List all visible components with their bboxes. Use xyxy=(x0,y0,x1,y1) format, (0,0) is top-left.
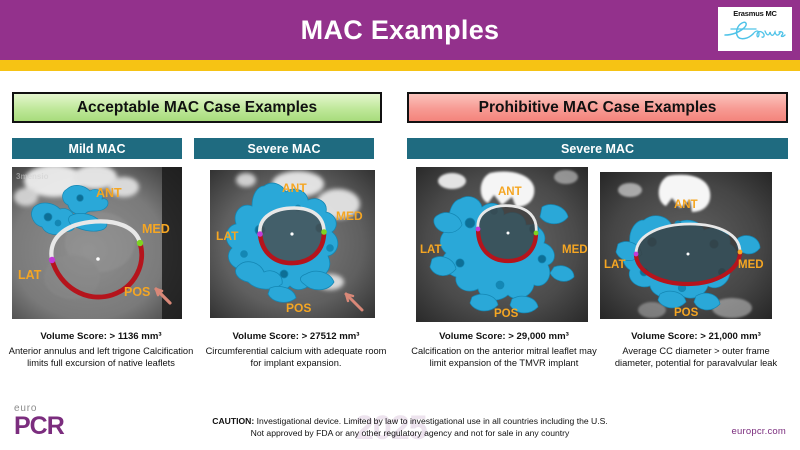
erasmus-mc-logo: Erasmus MC xyxy=(718,7,792,51)
label-pos: POS xyxy=(494,308,519,320)
caption-text-3: Calcification on the anterior mitral lea… xyxy=(402,345,606,370)
label-med: MED xyxy=(336,209,363,223)
europcr-website[interactable]: europcr.com xyxy=(732,426,786,437)
subheader-mild-mac-label: Mild MAC xyxy=(69,142,126,156)
caption-text-1: Anterior annulus and left trigone Calcif… xyxy=(6,345,196,370)
label-ant: ANT xyxy=(674,199,698,211)
page-title: MAC Examples xyxy=(0,0,800,60)
label-lat: LAT xyxy=(18,268,42,282)
europcr-logo-pcr: PCR xyxy=(14,414,92,438)
caution-line-1: Investigational device. Limited by law t… xyxy=(254,416,608,426)
section-banner-acceptable-label: Acceptable MAC Case Examples xyxy=(77,99,317,117)
section-banner-prohibitive-label: Prohibitive MAC Case Examples xyxy=(479,99,717,117)
caution-notice: CAUTION: Investigational device. Limited… xyxy=(140,415,680,440)
label-med: MED xyxy=(562,244,588,256)
slide-header: MAC Examples Erasmus MC xyxy=(0,0,800,60)
caution-prefix: CAUTION: xyxy=(212,416,254,426)
label-med: MED xyxy=(142,222,170,236)
volume-score-2: Volume Score: > 27512 mm³ xyxy=(204,331,388,344)
ct-image-severe-mac-prohibitive-2: ANT MED LAT POS xyxy=(600,172,772,319)
label-pos: POS xyxy=(124,285,150,299)
caption-severe-mac-acceptable: Volume Score: > 27512 mm³ Circumferentia… xyxy=(204,331,388,370)
europcr-logo: euro PCR xyxy=(14,404,92,444)
label-ant: ANT xyxy=(282,181,307,195)
ct-watermark: 3mensio xyxy=(16,172,49,181)
label-ant: ANT xyxy=(498,186,522,198)
subheader-severe-mac-prohibitive-label: Severe MAC xyxy=(561,142,634,156)
label-lat: LAT xyxy=(420,244,442,256)
subheader-severe-mac-acceptable-label: Severe MAC xyxy=(248,142,321,156)
subheader-severe-mac-prohibitive: Severe MAC xyxy=(407,138,788,159)
ct-image-severe-mac-prohibitive-1: ANT MED LAT POS xyxy=(416,167,588,322)
caption-text-2: Circumferential calcium with adequate ro… xyxy=(204,345,388,370)
caption-mild-mac: Volume Score: > 1136 mm³ Anterior annulu… xyxy=(6,331,196,370)
ct-image-mild-mac: ANT MED LAT POS 3mensio xyxy=(12,167,182,319)
subheader-severe-mac-acceptable: Severe MAC xyxy=(194,138,374,159)
subheader-mild-mac: Mild MAC xyxy=(12,138,182,159)
label-lat: LAT xyxy=(216,229,239,243)
label-med: MED xyxy=(738,259,764,271)
label-pos: POS xyxy=(286,301,311,315)
erasmus-signature-icon xyxy=(722,19,788,43)
accent-bar xyxy=(0,60,800,71)
volume-score-3: Volume Score: > 29,000 mm³ xyxy=(402,331,606,344)
ct-image-severe-mac-acceptable: ANT MED LAT POS xyxy=(210,170,375,318)
label-pos: POS xyxy=(674,307,699,319)
volume-score-1: Volume Score: > 1136 mm³ xyxy=(6,331,196,344)
volume-score-4: Volume Score: > 21,000 mm³ xyxy=(608,331,784,344)
caption-severe-mac-prohibitive-2: Volume Score: > 21,000 mm³ Average CC di… xyxy=(608,331,784,370)
label-lat: LAT xyxy=(604,259,626,271)
caution-line-2: Not approved by FDA or any other regulat… xyxy=(251,428,570,438)
caption-text-4: Average CC diameter > outer frame diamet… xyxy=(608,345,784,370)
section-banner-prohibitive: Prohibitive MAC Case Examples xyxy=(407,92,788,123)
erasmus-mc-logo-text: Erasmus MC xyxy=(733,10,776,18)
section-banner-acceptable: Acceptable MAC Case Examples xyxy=(12,92,382,123)
caption-severe-mac-prohibitive-1: Volume Score: > 29,000 mm³ Calcification… xyxy=(402,331,606,370)
label-ant: ANT xyxy=(96,186,122,200)
